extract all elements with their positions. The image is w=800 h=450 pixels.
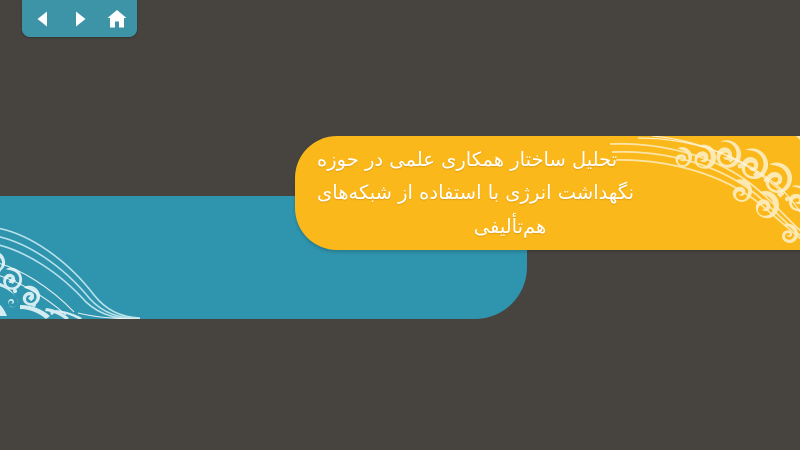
home-button[interactable] <box>102 4 132 34</box>
forward-button[interactable] <box>65 4 95 34</box>
slide-title: تحلیل ساختار همکاری علمی در حوزه نگهداشت… <box>317 136 797 250</box>
navigation-toolbar <box>22 0 137 37</box>
title-line-2: نگهداشت انرژی با استفاده از شبکه‌های <box>317 176 634 210</box>
title-banner: تحلیل ساختار همکاری علمی در حوزه نگهداشت… <box>295 136 800 250</box>
title-line-3: هم‌تألیفی <box>474 210 625 244</box>
presentation-slide: تحلیل ساختار همکاری علمی در حوزه نگهداشت… <box>0 0 800 450</box>
title-line-1: تحلیل ساختار همکاری علمی در حوزه <box>317 143 617 177</box>
back-button[interactable] <box>28 4 58 34</box>
arabesque-ornament-bottom-left-icon <box>0 209 140 319</box>
